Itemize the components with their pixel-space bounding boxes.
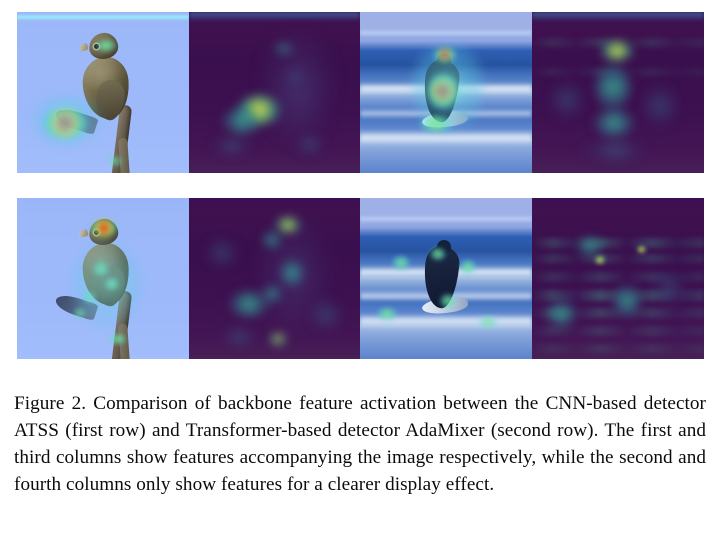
panel-adamixer-bird-image — [17, 198, 189, 359]
featuremap-faint-activation-b — [309, 298, 343, 332]
featuremap-faint-activation-c — [219, 328, 259, 346]
featuremap-spark-a — [594, 256, 606, 264]
activation-patch-branch — [109, 334, 127, 344]
activation-patch-board — [440, 294, 456, 308]
featuremap-activation-torso — [596, 64, 630, 110]
panel-atss-surfer-image — [360, 12, 532, 173]
featuremap-band-2 — [532, 254, 704, 263]
activation-patch-foam-right — [478, 316, 498, 328]
featuremap-activation-cluster-b — [614, 286, 640, 316]
horizon-haze — [360, 30, 532, 36]
activation-spot-head — [95, 40, 117, 51]
featuremap-faint-activation-left — [550, 80, 584, 120]
activation-hotspot-head — [91, 220, 117, 236]
panel-grid — [17, 12, 704, 359]
figure-container: Figure 2. Comparison of backbone feature… — [0, 0, 720, 557]
featuremap-activation-neck — [263, 232, 281, 248]
featuremap-faint-activation-b — [209, 138, 255, 154]
activation-patch-foam-left — [376, 308, 398, 320]
featuremap-spark-b — [636, 246, 647, 253]
featuremap-activation-tail — [229, 292, 269, 316]
figure-caption: Figure 2. Comparison of backbone feature… — [14, 390, 706, 498]
panel-atss-bird-featuremap — [189, 12, 360, 173]
activation-patch-surfer-head — [430, 248, 446, 260]
featuremap-activation-cluster-c — [546, 302, 576, 326]
panel-atss-surfer-featuremap — [532, 12, 704, 173]
panel-atss-bird-image — [17, 12, 189, 173]
activation-halo-tail — [31, 96, 101, 146]
panel-adamixer-surfer-image — [360, 198, 532, 359]
featuremap-faint-activation-a — [285, 70, 305, 82]
figure-row-second — [17, 198, 704, 359]
featuremap-peak-activation-head — [275, 218, 301, 232]
activation-spot-board — [418, 116, 454, 132]
activation-spot-branch — [107, 156, 123, 166]
featuremap-activation-body — [281, 260, 303, 286]
featuremap-peak-activation — [600, 42, 634, 60]
featuremap-secondary-activation — [223, 108, 261, 134]
activation-patch-tail — [73, 308, 87, 318]
featuremap-faint-activation-c — [293, 136, 327, 154]
featuremap-faint-activation-a — [205, 238, 239, 268]
panel-adamixer-bird-featuremap — [189, 198, 360, 359]
horizon-haze — [360, 216, 532, 222]
featuremap-spark-branch — [269, 334, 287, 344]
figure-row-first — [17, 12, 704, 173]
featuremap-faint-activation-right — [642, 84, 678, 128]
featuremap-faint-activation-bottom — [580, 140, 650, 160]
featuremap-activation-head — [273, 44, 295, 53]
featuremap-faint-cluster-d — [652, 274, 686, 302]
featuremap-band-6 — [532, 326, 704, 336]
featuremap-activation-cluster-a — [576, 238, 604, 254]
featuremap-activation-lower — [594, 110, 634, 136]
featuremap-top-band — [532, 12, 704, 21]
panel-adamixer-surfer-featuremap — [532, 198, 704, 359]
activation-patch-wave-right — [460, 260, 476, 274]
featuremap-top-band — [189, 12, 360, 21]
activation-patch-wave-left — [392, 256, 410, 270]
wave-crest-lower — [360, 131, 532, 144]
sky-highlight-stripe — [17, 14, 189, 20]
featuremap-band-1 — [532, 238, 704, 248]
featuremap-band-7 — [532, 344, 704, 353]
